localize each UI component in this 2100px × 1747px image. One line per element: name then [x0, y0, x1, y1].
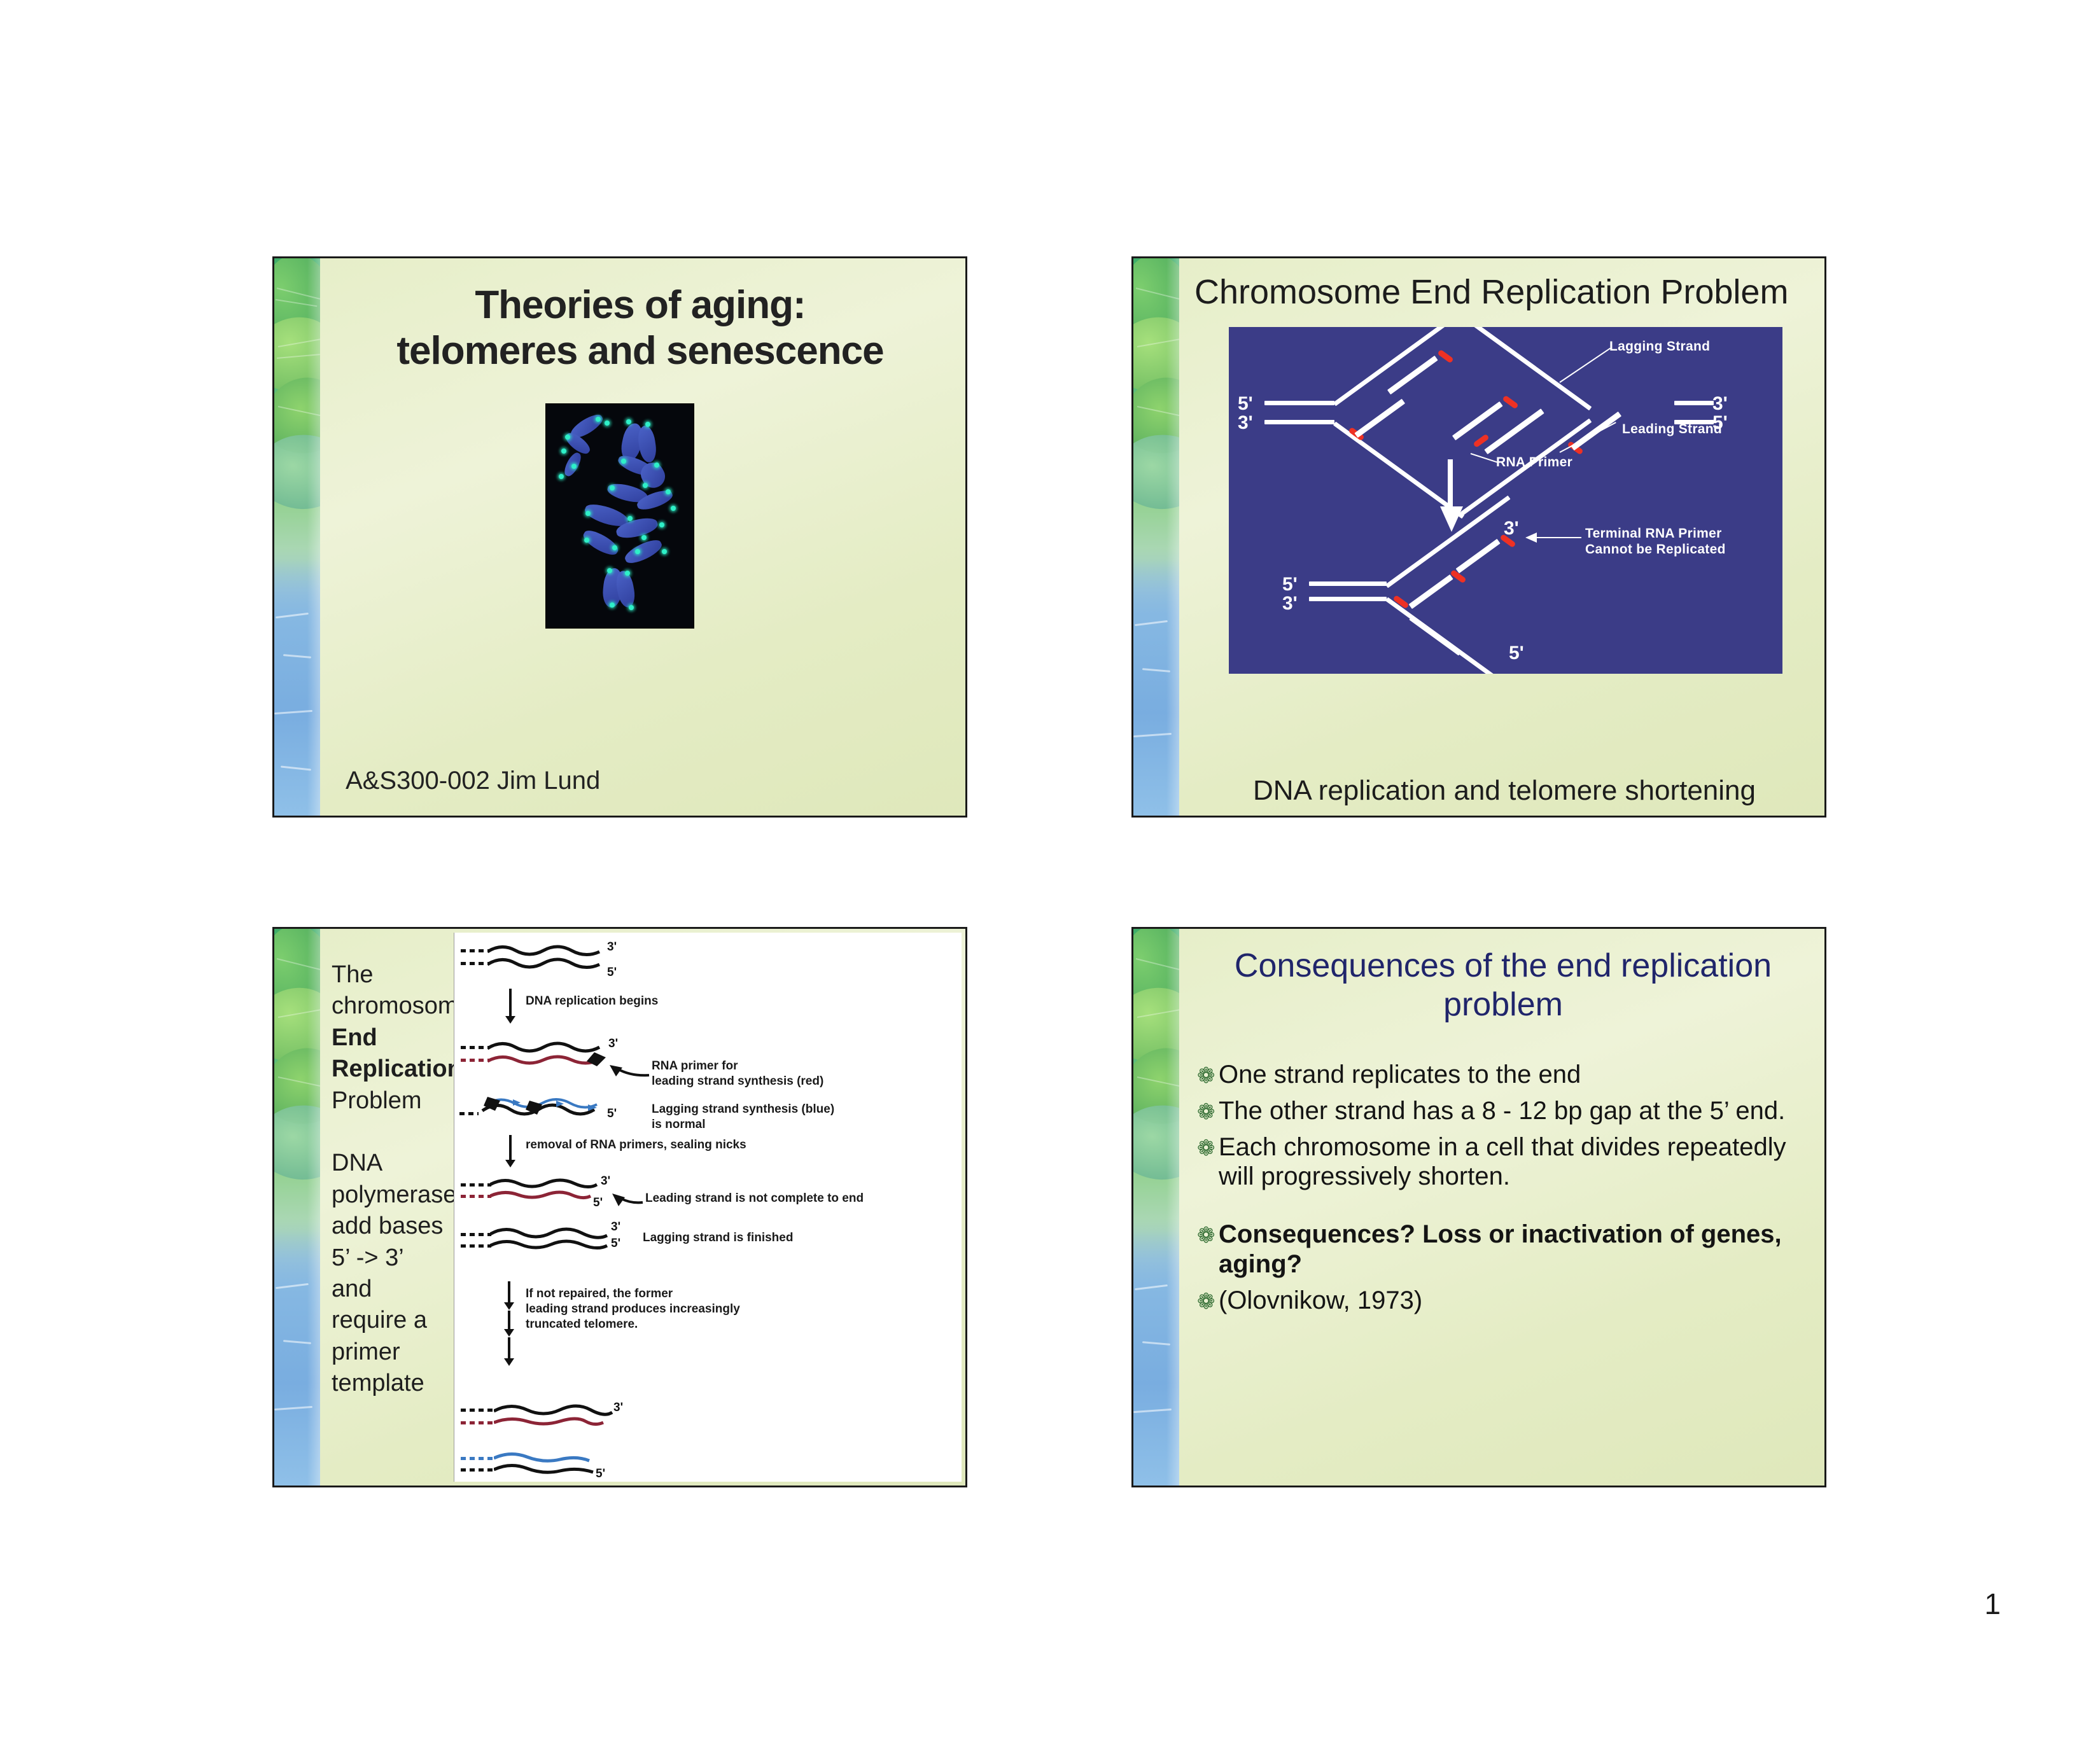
title-line-2: telomeres and senescence	[332, 328, 949, 374]
list-item: ❁ Consequences? Loss or inactivation of …	[1197, 1220, 1808, 1279]
list-item: ❁ (Olovnikow, 1973)	[1197, 1286, 1808, 1316]
figure-caption: RNA primer for leading strand synthesis …	[652, 1059, 823, 1089]
end-mark: 5'	[593, 1196, 603, 1210]
list-item-label: Each chromosome in a cell that divides r…	[1219, 1132, 1808, 1192]
dna-strand-wave	[494, 1449, 608, 1481]
process-arrow-icon	[1448, 459, 1453, 509]
dna-dash	[461, 949, 489, 952]
decorative-photo-strip	[274, 929, 320, 1486]
text-chunk-2-bold: End Replication	[332, 1024, 462, 1082]
flower-bullet-icon: ❁	[1197, 1065, 1219, 1087]
flower-bullet-icon: ❁	[1197, 1101, 1219, 1123]
end-mark-3prime-top-right: 3'	[1712, 393, 1728, 415]
dna-dash	[461, 1421, 495, 1424]
slide-4-consequences: Consequences of the end replication prob…	[1131, 927, 1826, 1487]
dna-dash	[461, 1195, 491, 1198]
lagging-strand-wave	[476, 1092, 626, 1124]
decorative-photo-strip	[1133, 929, 1179, 1486]
dna-dash	[461, 1244, 491, 1248]
slide-1-title: Theories of aging: telomeres and senesce…	[272, 256, 967, 818]
label-leading-strand: Leading Strand	[1622, 421, 1722, 437]
dna-strand-wave	[494, 1401, 621, 1433]
end-mark-3prime-top-left: 3'	[1238, 412, 1253, 434]
flower-bullet-icon: ❁	[1197, 1138, 1219, 1159]
figure-caption: Leading strand is not complete to end	[645, 1191, 864, 1206]
end-mark-5prime-bottom-left: 5'	[1282, 574, 1298, 595]
dna-dash	[459, 1112, 479, 1115]
process-arrow-icon	[508, 1311, 510, 1330]
dna-dash	[461, 1183, 491, 1187]
list-item: ❁ One strand replicates to the end	[1197, 1060, 1808, 1090]
dna-dash	[461, 1409, 495, 1412]
end-mark: 5'	[607, 966, 617, 980]
list-item-label: Consequences? Loss or inactivation of ge…	[1219, 1220, 1808, 1279]
slide-2-end-replication: Chromosome End Replication Problem 5' 3'…	[1131, 256, 1826, 818]
karyotype-image	[545, 403, 694, 629]
byline: A&S300-002 Jim Lund	[346, 767, 600, 795]
dna-dash	[461, 962, 489, 965]
page-number: 1	[1984, 1587, 2001, 1621]
slide-3-end-replication-detail: The chromosome End Replication Problem D…	[272, 927, 967, 1487]
figure-caption: Lagging strand is finished	[643, 1230, 793, 1246]
dna-strand-wave	[490, 1224, 617, 1257]
end-mark: 3'	[611, 1220, 620, 1234]
dna-dash	[461, 1468, 495, 1472]
label-lagging-strand: Lagging Strand	[1609, 338, 1710, 354]
dna-dash	[461, 1059, 489, 1062]
list-item: ❁ The other strand has a 8 - 12 bp gap a…	[1197, 1096, 1808, 1126]
dna-dash	[461, 1046, 489, 1049]
end-mark: 3'	[601, 1174, 610, 1188]
dna-strand-wave	[487, 942, 621, 972]
flower-bullet-icon: ❁	[1197, 1291, 1219, 1312]
title-line-2: problem	[1205, 985, 1802, 1024]
figure-caption: removal of RNA primers, sealing nicks	[526, 1138, 746, 1153]
telomere-shortening-diagram: 3' 5' DNA replication begins 3' RNA prim…	[454, 933, 962, 1482]
decorative-photo-strip	[274, 258, 320, 816]
figure-caption: DNA replication and telomere shortening	[1194, 775, 1814, 807]
label-rna-primer: RNA Primer	[1496, 454, 1572, 470]
end-mark-5prime-top-left: 5'	[1238, 393, 1253, 415]
process-arrow-icon	[508, 1281, 510, 1303]
title-line-1: Consequences of the end replication	[1205, 947, 1802, 985]
page-title: Theories of aging: telomeres and senesce…	[332, 282, 949, 374]
slide-3-body-text: The chromosome End Replication Problem D…	[332, 959, 447, 1399]
end-mark: 5'	[607, 1107, 617, 1121]
process-arrow-icon	[508, 1337, 510, 1359]
dna-dash	[461, 1457, 495, 1460]
page-title: Consequences of the end replication prob…	[1205, 947, 1802, 1025]
list-item-label: The other strand has a 8 - 12 bp gap at …	[1219, 1096, 1785, 1126]
dna-strand-wave	[487, 1038, 621, 1069]
figure-caption: DNA replication begins	[526, 994, 658, 1009]
process-arrow-icon	[509, 1135, 512, 1160]
end-mark: 3'	[607, 940, 617, 954]
end-mark: 5'	[611, 1237, 620, 1251]
end-mark-3prime-bottom-left: 3'	[1282, 593, 1298, 615]
dna-dash	[461, 1233, 491, 1236]
title-line-1: Theories of aging:	[332, 282, 949, 328]
list-item: ❁ Each chromosome in a cell that divides…	[1197, 1132, 1808, 1192]
flower-bullet-icon: ❁	[1197, 1225, 1219, 1246]
list-item-label: One strand replicates to the end	[1219, 1060, 1581, 1090]
decorative-photo-strip	[1133, 258, 1179, 816]
process-arrow-icon	[509, 989, 512, 1017]
list-item-label: (Olovnikow, 1973)	[1219, 1286, 1422, 1316]
callout-arrow	[606, 1062, 652, 1080]
text-chunk-3: Problem	[332, 1087, 422, 1114]
arrowhead-left-icon	[1525, 532, 1537, 543]
end-mark: 3'	[608, 1037, 618, 1051]
page-title: Chromosome End Replication Problem	[1194, 274, 1812, 311]
callout-arrow	[610, 1192, 645, 1209]
figure-caption: Lagging strand synthesis (blue) is norma…	[652, 1102, 834, 1132]
end-mark-5prime-bottom-right: 5'	[1509, 643, 1524, 664]
label-terminal-rna-primer: Terminal RNA Primer Cannot be Replicated	[1585, 525, 1726, 557]
dna-replication-figure: 5' 3' 3' 5' Lagging Strand Leading Stran…	[1229, 327, 1782, 674]
bullet-list: ❁ One strand replicates to the end ❁ The…	[1197, 1060, 1808, 1322]
end-mark: 3'	[613, 1401, 623, 1415]
end-mark: 5'	[596, 1467, 605, 1481]
figure-caption: If not repaired, the former leading stra…	[526, 1286, 740, 1332]
